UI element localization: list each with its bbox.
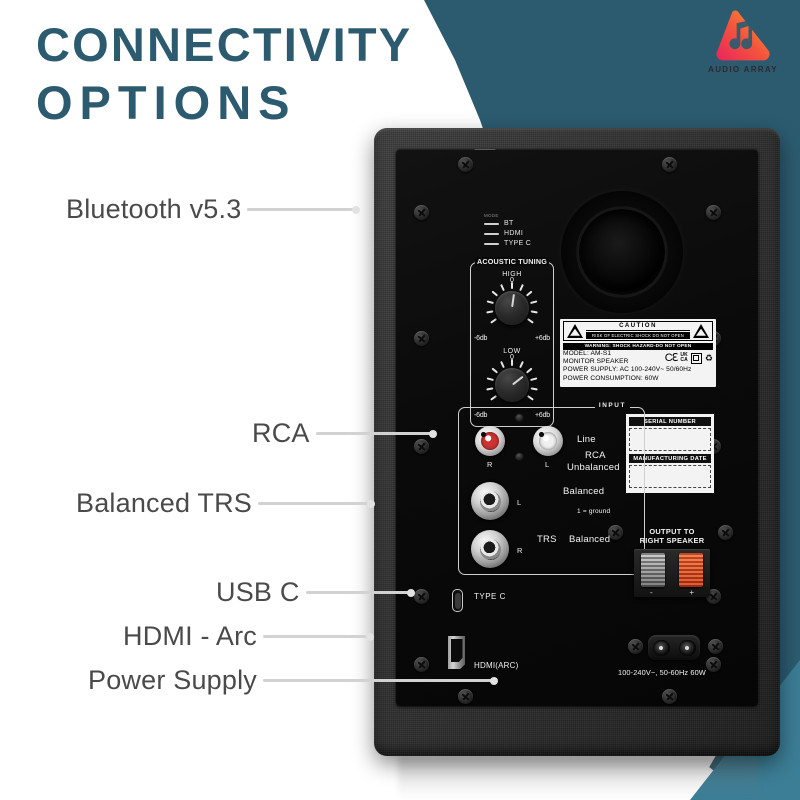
trs-left-label: L — [517, 498, 521, 507]
callout-power-supply: Power Supply — [88, 665, 495, 696]
positive-sign-label: + — [689, 588, 694, 597]
led-bar-icon — [484, 223, 499, 225]
low-knob-cap[interactable] — [495, 368, 529, 402]
page-title-line1: CONNECTIVITY — [36, 18, 412, 71]
caution-text-group: CAUTION RISK OF ELECTRIC SHOCK DO NOT OP… — [586, 322, 690, 340]
spec-power-consumption: POWER CONSUMPTION: 60W — [563, 375, 713, 383]
callout-rca: RCA — [252, 418, 434, 449]
high-knob-group[interactable]: HIGH 0 — [471, 271, 553, 342]
iec-power-inlet[interactable] — [648, 635, 700, 660]
binding-post-negative[interactable] — [641, 553, 665, 587]
rca-left-label: L — [545, 460, 549, 469]
bass-reflex-port-inner — [579, 209, 665, 295]
high-knob-min: -6db — [474, 335, 487, 342]
led-bar-icon — [484, 243, 499, 245]
spec-text-group: MODEL: AM-S1 MONITOR SPEAKER Cℇ UKCA ♻ P… — [563, 350, 713, 383]
poster-canvas: CONNECTIVITY OPTIONS AUDIO ARRAY — [0, 0, 800, 800]
callout-leader-line — [247, 208, 357, 211]
speaker-reflection — [398, 756, 758, 800]
callout-label-rca: RCA — [252, 418, 310, 449]
high-knob-dial[interactable] — [486, 282, 538, 334]
compliance-marks-group: Cℇ UKCA ♻ — [665, 353, 713, 364]
spec-model: MODEL: AM-S1 — [563, 350, 629, 358]
callout-leader-line — [306, 591, 412, 594]
screw — [706, 657, 721, 672]
acoustic-tuning-title: ACOUSTIC TUNING — [475, 257, 549, 266]
caution-box: CAUTION RISK OF ELECTRIC SHOCK DO NOT OP… — [563, 321, 713, 341]
trs-label: TRS — [537, 534, 557, 545]
negative-sign-label: - — [650, 588, 653, 597]
line-label: Line — [577, 434, 596, 445]
rca-jack-left[interactable] — [533, 426, 563, 456]
lightning-warning-triangle-icon — [564, 322, 586, 340]
callout-label-balanced-trs: Balanced TRS — [76, 488, 252, 519]
screw — [706, 205, 721, 220]
screw — [414, 205, 429, 220]
callout-label-hdmi-arc: HDMI - Arc — [123, 621, 257, 652]
ce-mark-icon: Cℇ — [665, 354, 678, 362]
weee-bin-mark-icon: ♻ — [705, 354, 713, 363]
screw — [708, 639, 723, 654]
screw — [458, 157, 473, 172]
callout-leader-line — [316, 432, 434, 435]
trs-balanced-label: Balanced — [569, 534, 610, 545]
led-group-header: MODE — [484, 213, 531, 218]
high-knob-pointer — [511, 294, 514, 307]
trs-right-label: R — [517, 546, 522, 555]
screw — [662, 157, 677, 172]
led-bar-icon — [484, 233, 499, 235]
rca-right-label: R — [487, 460, 492, 469]
rca-unbalanced-label-1: RCA — [585, 450, 606, 461]
acoustic-tuning-panel: ACOUSTIC TUNING HIGH 0 — [470, 262, 554, 427]
brand-logo: AUDIO ARRAY — [704, 8, 782, 74]
page-title: CONNECTIVITY OPTIONS — [36, 16, 412, 132]
callout-label-power-supply: Power Supply — [88, 665, 257, 696]
screw — [628, 639, 643, 654]
led-row-hdmi: HDMI — [484, 229, 531, 238]
led-label-bt: BT — [504, 219, 514, 228]
mounting-hole — [515, 413, 524, 422]
output-title-line1: OUTPUT TO — [628, 527, 716, 536]
callout-bluetooth: Bluetooth v5.3 — [66, 194, 357, 225]
input-panel: INPUT R L Line RCA Unbalanced L R Balanc… — [458, 407, 645, 575]
class-2-mark-icon — [691, 353, 702, 364]
mains-rating-label: 100-240V~, 50-60Hz 60W — [618, 668, 706, 677]
callout-label-usb-c: USB C — [216, 577, 300, 608]
caution-warning-bar: WARNING: SHOCK HAZARD-DO NOT OPEN — [563, 343, 713, 350]
callout-leader-line — [263, 679, 495, 682]
binding-post-pair[interactable]: - + — [634, 549, 710, 597]
exclamation-warning-triangle-icon — [690, 322, 712, 340]
speaker-rear-panel: MODE BT HDMI TYPE C ACOUSTIC TUNING — [374, 128, 780, 756]
high-knob-range: -6db +6db — [471, 335, 553, 342]
usb-c-port[interactable] — [452, 589, 463, 612]
output-terminal-block: OUTPUT TO RIGHT SPEAKER - + — [628, 527, 716, 597]
plate-tab — [474, 149, 496, 150]
mounting-hole — [515, 452, 524, 461]
callout-hdmi-arc: HDMI - Arc — [123, 621, 371, 652]
page-title-line2: OPTIONS — [36, 74, 412, 132]
screw — [662, 689, 677, 704]
callout-leader-line — [258, 502, 372, 505]
led-label-hdmi: HDMI — [504, 229, 523, 238]
screw — [414, 331, 429, 346]
high-knob-cap[interactable] — [495, 291, 529, 325]
caution-subtitle: RISK OF ELECTRIC SHOCK DO NOT OPEN — [586, 332, 690, 339]
output-title-line2: RIGHT SPEAKER — [628, 536, 716, 545]
input-panel-title: INPUT — [595, 402, 630, 409]
callout-label-bluetooth: Bluetooth v5.3 — [66, 194, 241, 225]
compliance-sticker: CAUTION RISK OF ELECTRIC SHOCK DO NOT OP… — [560, 319, 716, 387]
bass-reflex-port — [561, 191, 683, 313]
trs-jack-right[interactable] — [471, 530, 509, 568]
screw — [414, 589, 429, 604]
spec-power-supply: POWER SUPPLY: AC 100-240V~ 50/60Hz — [563, 366, 713, 374]
ukca-mark-icon: UKCA — [680, 353, 687, 363]
trs-jack-left[interactable] — [471, 482, 509, 520]
ground-note: 1 = ground — [577, 508, 610, 515]
callout-leader-line — [263, 635, 371, 638]
caution-title: CAUTION — [586, 323, 690, 331]
type-c-label: TYPE C — [474, 592, 506, 601]
led-indicator-group: MODE BT HDMI TYPE C — [484, 213, 531, 249]
brand-name: AUDIO ARRAY — [704, 65, 782, 74]
led-row-typec: TYPE C — [484, 239, 531, 248]
low-knob-dial[interactable] — [486, 359, 538, 411]
balanced-label: Balanced — [563, 486, 604, 497]
rca-unbalanced-label-2: Unbalanced — [567, 462, 620, 473]
rca-jack-right[interactable] — [475, 426, 505, 456]
led-label-typec: TYPE C — [504, 239, 531, 248]
high-knob-max: +6db — [535, 335, 550, 342]
callout-usb-c: USB C — [216, 577, 412, 608]
low-knob-pointer — [512, 376, 523, 385]
amplifier-plate: MODE BT HDMI TYPE C ACOUSTIC TUNING — [396, 149, 758, 706]
spec-type: MONITOR SPEAKER — [563, 358, 629, 366]
screw — [718, 525, 733, 540]
binding-post-positive[interactable] — [679, 553, 703, 587]
audio-array-triangle-icon — [714, 8, 772, 62]
led-row-bt: BT — [484, 219, 531, 228]
callout-balanced-trs: Balanced TRS — [76, 488, 372, 519]
